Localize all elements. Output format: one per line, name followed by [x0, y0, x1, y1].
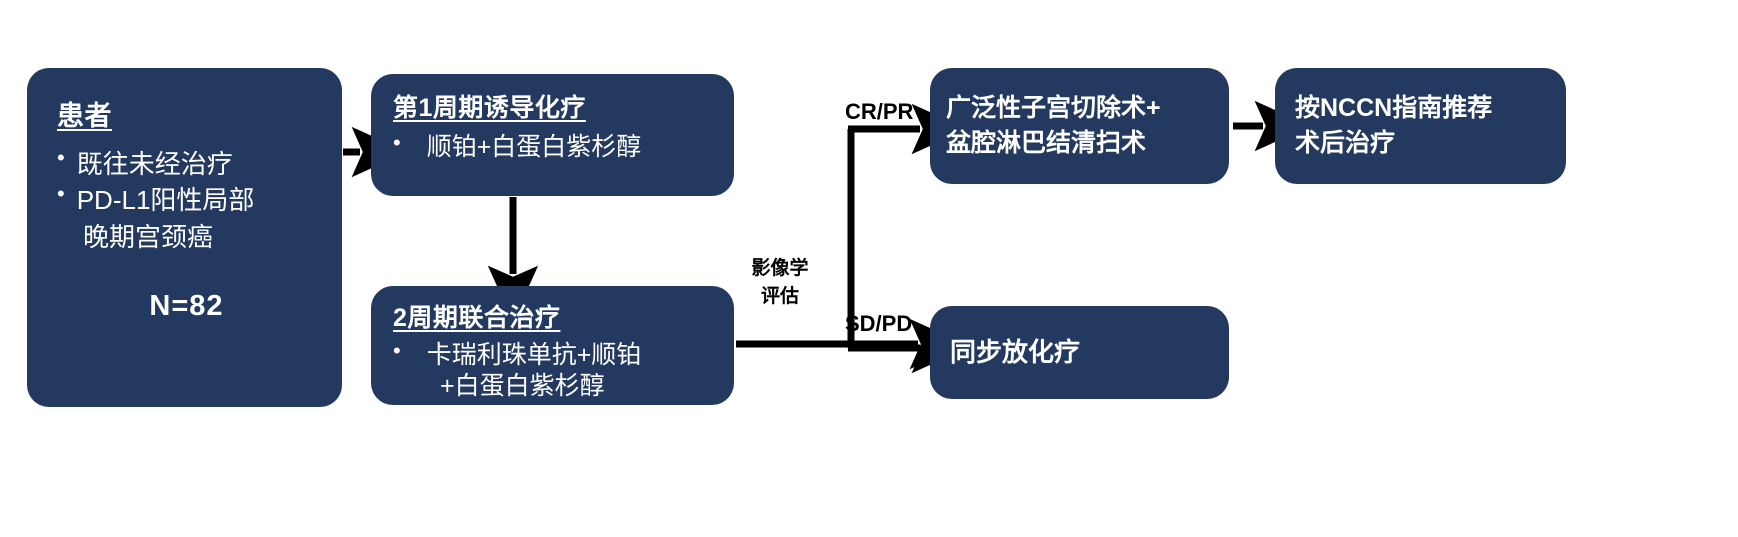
- node-combination-title: 2周期联合治疗: [393, 298, 720, 334]
- flowchart-canvas: 患者 • 既往未经治疗 • PD-L1阳性局部 晚期宫颈癌 N=82 第1周期诱…: [0, 0, 1738, 537]
- node-ccrt-line-1: 同步放化疗: [950, 336, 1215, 370]
- node-induction-bullet: • 顺铂+白蛋白紫杉醇: [393, 132, 718, 163]
- node-surgery-line-2: 盆腔淋巴结清扫术: [946, 126, 1215, 162]
- bullet-icon: •: [393, 132, 401, 154]
- node-combination-bullet-text: 卡瑞利珠单抗+顺铂: [427, 340, 720, 371]
- node-combination-therapy[interactable]: 2周期联合治疗 • 卡瑞利珠单抗+顺铂 +白蛋白紫杉醇: [371, 286, 734, 405]
- node-patients-title: 患者: [57, 94, 316, 133]
- node-patients-bullet-2: • PD-L1阳性局部: [57, 183, 316, 217]
- node-induction-bullet-text: 顺铂+白蛋白紫杉醇: [427, 132, 718, 163]
- node-nccn-line-2: 术后治疗: [1295, 126, 1552, 162]
- bullet-icon: •: [57, 147, 65, 169]
- node-patients-bullet-2-text: PD-L1阳性局部: [77, 183, 316, 217]
- bullet-icon: •: [393, 340, 401, 362]
- node-induction-chemo[interactable]: 第1周期诱导化疗 • 顺铂+白蛋白紫杉醇: [371, 74, 734, 196]
- node-patients-bullet-1-text: 既往未经治疗: [77, 147, 316, 181]
- node-nccn-line-1: 按NCCN指南推荐: [1295, 91, 1552, 127]
- edge-label-imaging-line-2: 评估: [745, 283, 815, 311]
- edge-label-sd-pd: SD/PD: [845, 311, 912, 337]
- node-patients-bullet-2-continuation: 晚期宫颈癌: [57, 220, 316, 254]
- edge-label-imaging-assessment: 影像学 评估: [745, 255, 815, 310]
- node-nccn-adjuvant-therapy[interactable]: 按NCCN指南推荐 术后治疗: [1275, 68, 1566, 184]
- node-patients-bullet-1: • 既往未经治疗: [57, 147, 316, 181]
- node-combination-bullet-continuation: +白蛋白紫杉醇: [393, 371, 720, 402]
- bullet-icon: •: [57, 183, 65, 205]
- edge-label-imaging-line-1: 影像学: [745, 255, 815, 283]
- node-combination-bullet: • 卡瑞利珠单抗+顺铂: [393, 340, 720, 371]
- node-radical-surgery[interactable]: 广泛性子宫切除术+ 盆腔淋巴结清扫术: [930, 68, 1229, 184]
- node-induction-title: 第1周期诱导化疗: [393, 88, 718, 124]
- node-patients-sample-size: N=82: [57, 290, 316, 323]
- node-surgery-line-1: 广泛性子宫切除术+: [946, 91, 1215, 127]
- node-patients[interactable]: 患者 • 既往未经治疗 • PD-L1阳性局部 晚期宫颈癌 N=82: [27, 68, 342, 407]
- node-concurrent-chemoradiotherapy[interactable]: 同步放化疗: [930, 306, 1229, 399]
- edge-label-cr-pr: CR/PR: [845, 99, 913, 125]
